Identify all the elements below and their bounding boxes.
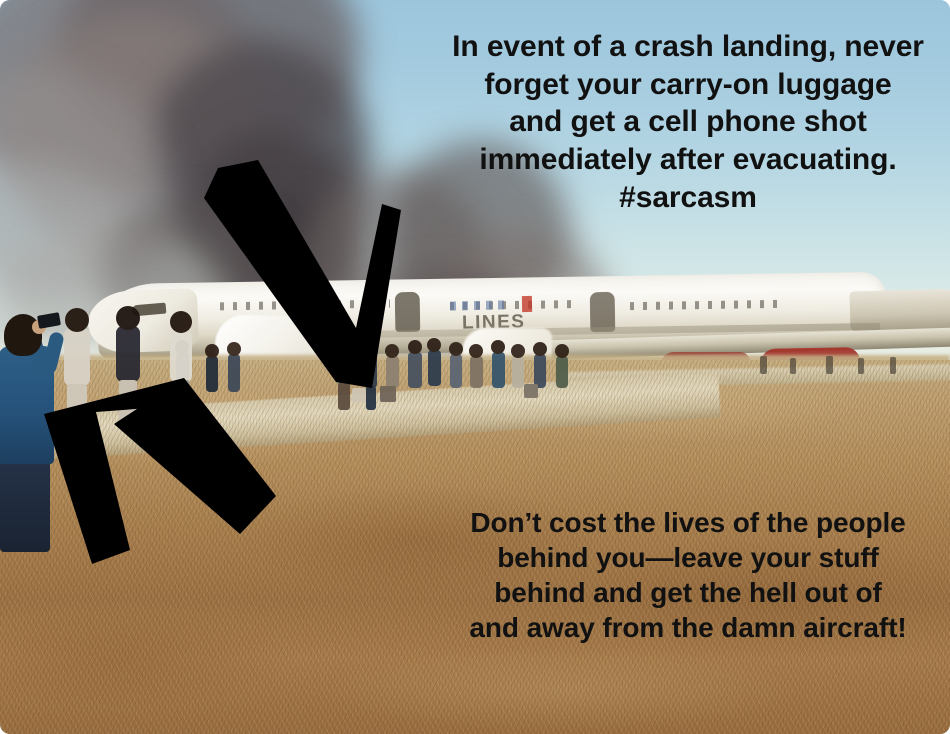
arrow-up-left-icon: [44, 378, 276, 568]
caption-line: forget your carry-on luggage: [436, 66, 940, 104]
caption-line: Don’t cost the lives of the people: [436, 505, 940, 540]
cellphone-icon: [37, 312, 61, 329]
caption-line: behind you—leave your stuff: [436, 540, 940, 575]
bottom-caption: Don’t cost the lives of the people behin…: [436, 505, 940, 646]
caption-line: and away from the damn aircraft!: [436, 610, 940, 645]
top-caption: In event of a crash landing, never forge…: [436, 28, 940, 216]
photographer-arm: [41, 331, 65, 375]
caption-line: #sarcasm: [436, 179, 940, 217]
caption-line: immediately after evacuating.: [436, 141, 940, 179]
livery-red-accent: [522, 296, 532, 312]
caption-line: In event of a crash landing, never: [436, 28, 940, 66]
arrow-down-right-icon: [196, 160, 406, 388]
photographer-legs: [0, 460, 50, 552]
meme-image: LINES: [0, 0, 950, 734]
caption-line: behind and get the hell out of: [436, 575, 940, 610]
airline-logo: [450, 300, 504, 310]
caption-line: and get a cell phone shot: [436, 103, 940, 141]
